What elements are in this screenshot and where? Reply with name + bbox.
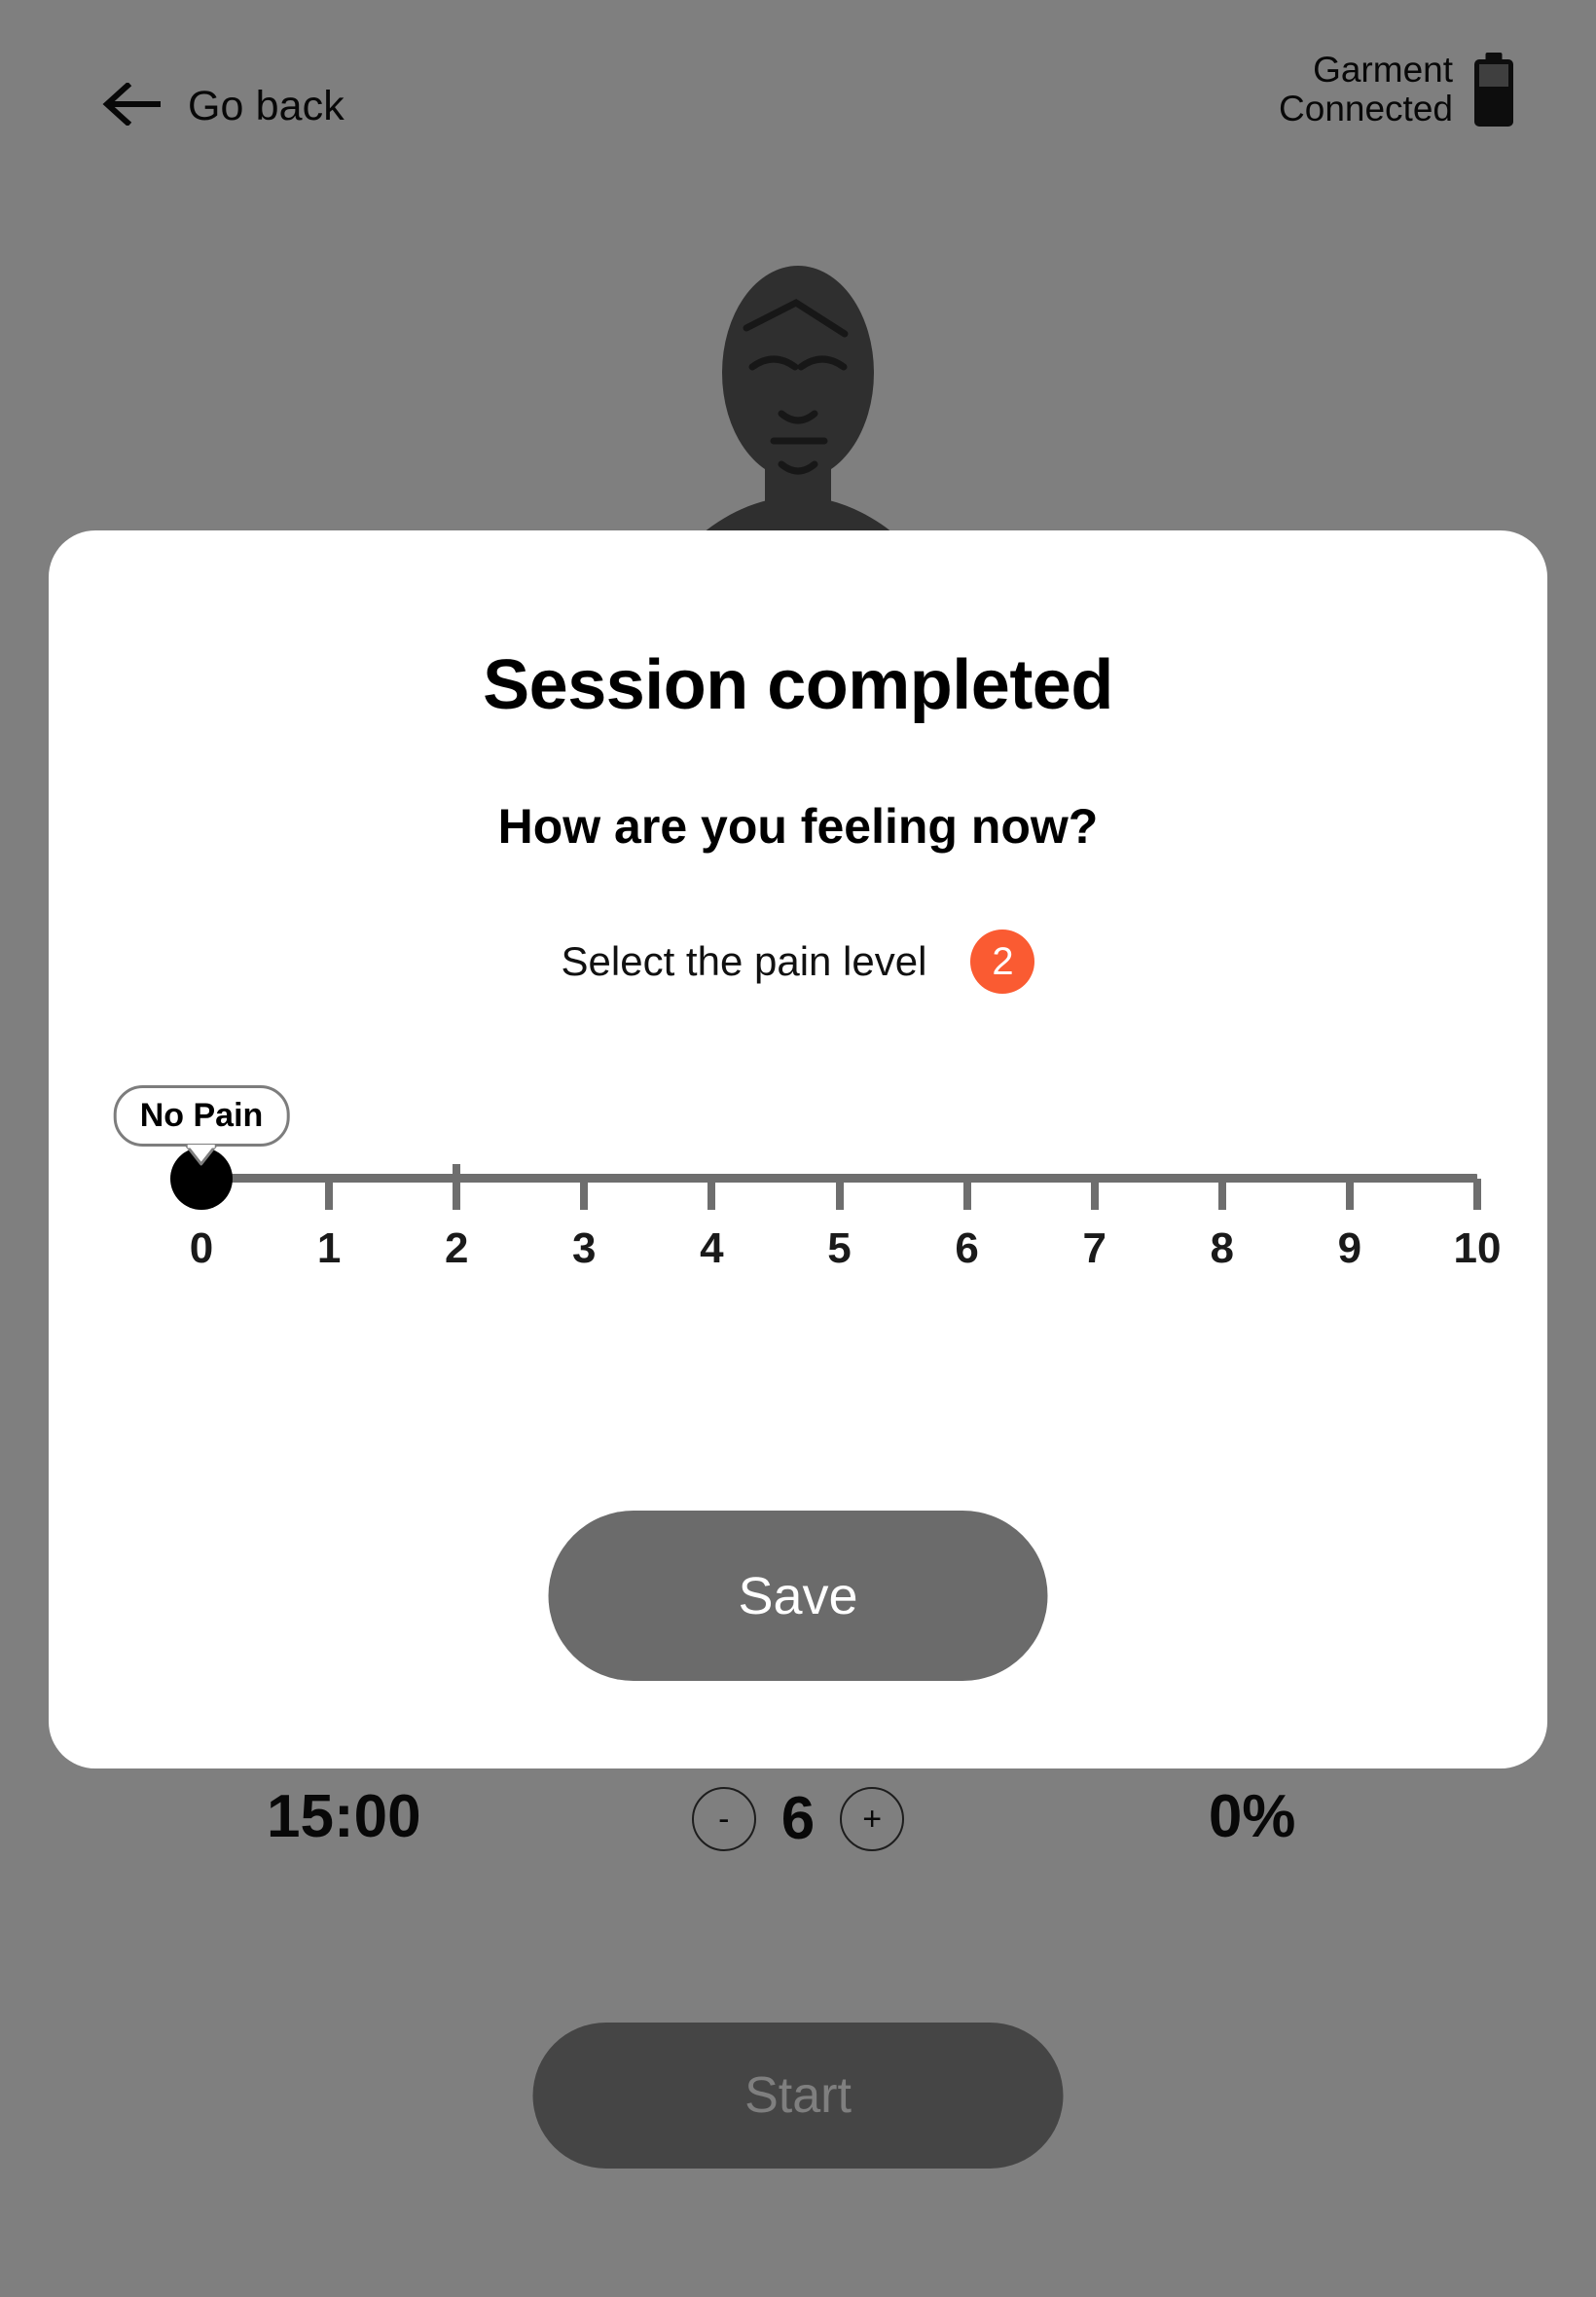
slider-tick-5[interactable]: [836, 1179, 844, 1210]
slider-tick-8[interactable]: [1218, 1179, 1226, 1210]
slider-tick-10[interactable]: [1473, 1179, 1481, 1210]
dialog-title: Session completed: [49, 645, 1547, 725]
slider-tick-label-4: 4: [700, 1227, 723, 1270]
pain-value-badge: 2: [970, 930, 1034, 994]
slider-tick-label-9: 9: [1338, 1227, 1361, 1270]
slider-tick-6[interactable]: [963, 1179, 971, 1210]
slider-tick-label-7: 7: [1082, 1227, 1106, 1270]
session-completed-dialog: Session completed How are you feeling no…: [49, 530, 1547, 1768]
save-button[interactable]: Save: [549, 1511, 1048, 1681]
slider-tooltip: No Pain: [114, 1085, 290, 1147]
slider-tick-label-1: 1: [317, 1227, 341, 1270]
dialog-question: How are you feeling now?: [49, 798, 1547, 855]
slider-tick-3[interactable]: [580, 1179, 588, 1210]
slider-tick-1[interactable]: [325, 1179, 333, 1210]
slider-tick-label-8: 8: [1211, 1227, 1234, 1270]
slider-tick-label-5: 5: [827, 1227, 851, 1270]
slider-tick-4[interactable]: [707, 1179, 715, 1210]
slider-tick-label-3: 3: [572, 1227, 596, 1270]
slider-tooltip-tail: [185, 1145, 218, 1171]
slider-tick-7[interactable]: [1091, 1179, 1099, 1210]
pain-level-slider[interactable]: 012345678910 No Pain: [49, 1050, 1547, 1274]
slider-tooltip-label: No Pain: [114, 1085, 290, 1147]
slider-tick-label-6: 6: [955, 1227, 978, 1270]
slider-tick-9[interactable]: [1346, 1179, 1354, 1210]
slider-tick-2[interactable]: [453, 1164, 460, 1210]
pain-prompt-row: Select the pain level 2: [49, 930, 1547, 994]
slider-tick-label-10: 10: [1454, 1227, 1502, 1270]
slider-tick-label-2: 2: [445, 1227, 468, 1270]
slider-inner: 012345678910 No Pain: [102, 1050, 1494, 1274]
pain-prompt-label: Select the pain level: [562, 938, 927, 985]
slider-tick-label-0: 0: [190, 1227, 213, 1270]
